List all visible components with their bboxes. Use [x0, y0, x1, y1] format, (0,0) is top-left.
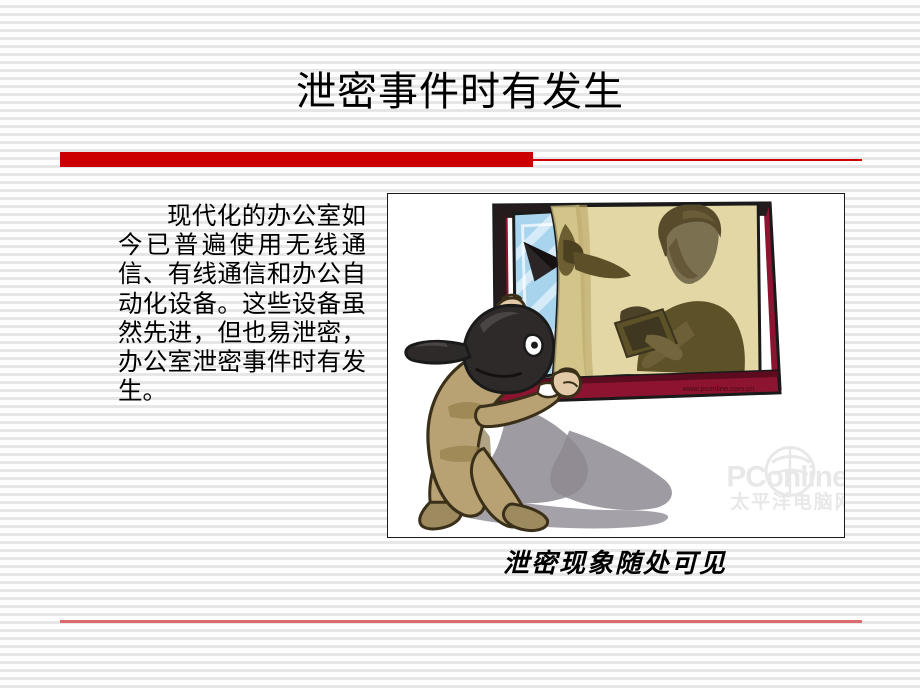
presentation-slide: 泄密事件时有发生 现代化的办公室如今已普遍使用无线通信、有线通信和办公自动化设备… [0, 0, 920, 690]
svg-text:太平洋电脑网: 太平洋电脑网 [730, 490, 844, 513]
spy-at-window-illustration: PConline 太平洋电脑网 www.pconline.com.cn [388, 194, 844, 537]
watermark-url: www.pconline.com.cn [682, 384, 755, 393]
hand-lower [552, 371, 580, 397]
footer-rule [60, 620, 862, 623]
title-divider-bar [60, 152, 533, 167]
svg-text:PConline: PConline [726, 460, 844, 493]
slide-title: 泄密事件时有发生 [60, 66, 860, 118]
illustration-frame: PConline 太平洋电脑网 www.pconline.com.cn [387, 193, 845, 538]
illustration-caption: 泄密现象随处可见 [470, 548, 760, 580]
body-paragraph: 现代化的办公室如今已普遍使用无线通信、有线通信和办公自动化设备。这些设备虽然先进… [118, 202, 366, 406]
